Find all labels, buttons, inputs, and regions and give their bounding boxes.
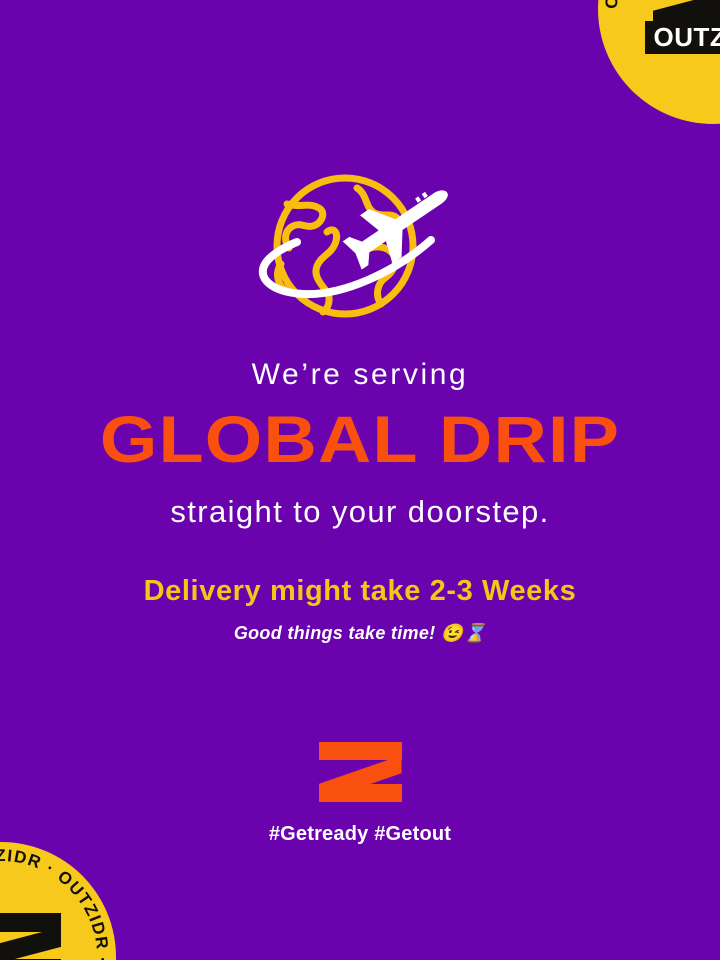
hashtags-text: #Getready #Getout: [0, 824, 720, 844]
copy-block: We’re serving GLOBAL DRIP straight to yo…: [0, 360, 720, 642]
promo-poster: OUTZIDR · OUTZIDR · OUTZIDR · OUTZIDR · …: [0, 0, 720, 960]
badge-core: OUTZIDR: [0, 881, 77, 960]
subheadline-text: straight to your doorstep.: [24, 496, 696, 527]
footer-branding: #Getready #Getout: [0, 742, 720, 844]
badge-wordmark: OUTZIDR: [645, 21, 720, 54]
outzidr-badge-top-right: OUTZIDR · OUTZIDR · OUTZIDR · OUTZIDR · …: [598, 0, 720, 124]
z-logo-mark: [319, 742, 402, 802]
z-logo-mark: [0, 913, 61, 960]
headline-text: GLOBAL DRIP: [0, 406, 720, 472]
badge-core: OUTZIDR: [637, 0, 720, 85]
delivery-note-text: Good things take time! 😉⌛: [24, 624, 696, 642]
globe-plane-illustration: [0, 168, 720, 343]
outzidr-badge-bottom-left: OUTZIDR · OUTZIDR · OUTZIDR · OUTZIDR · …: [0, 842, 116, 960]
delivery-estimate-text: Delivery might take 2-3 Weeks: [24, 577, 696, 606]
eyebrow-text: We’re serving: [24, 360, 696, 390]
